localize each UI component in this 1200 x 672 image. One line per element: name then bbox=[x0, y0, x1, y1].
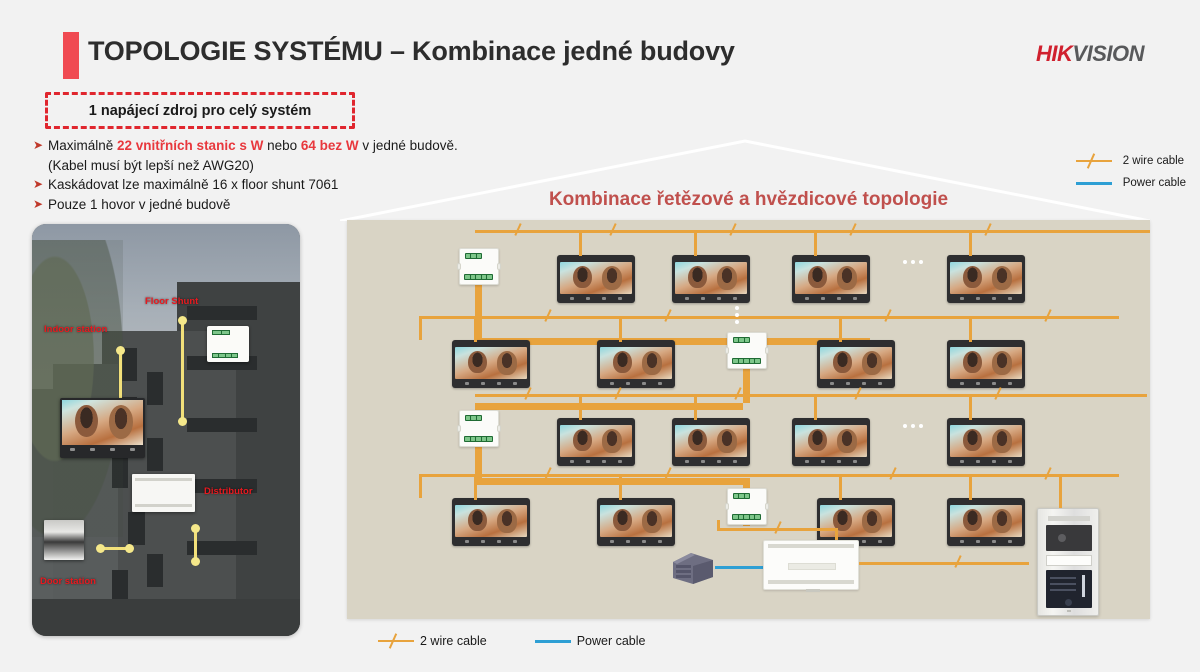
building-photo: Floor ShuntIndoor stationDistributorDoor… bbox=[32, 224, 300, 636]
monitor-screen bbox=[560, 262, 632, 294]
distributor-foot bbox=[806, 589, 820, 592]
floor-shunt-module[interactable] bbox=[727, 488, 767, 525]
photo-label-door-station: Door station bbox=[40, 576, 96, 587]
monitor-screen bbox=[820, 347, 892, 379]
photo-distributor-bottom-terminals bbox=[135, 504, 192, 507]
two-wire-cable-segment bbox=[814, 230, 817, 256]
photo-connector bbox=[178, 316, 187, 426]
shunt-left-ear bbox=[457, 425, 461, 432]
monitor-controls[interactable] bbox=[795, 294, 867, 303]
shunt-left-ear bbox=[725, 503, 729, 510]
photo-monitor-screen bbox=[62, 400, 143, 445]
indoor-station-monitor[interactable] bbox=[452, 498, 530, 546]
two-wire-cable-segment bbox=[839, 316, 842, 342]
photo-floor-shunt bbox=[207, 326, 249, 362]
bullet-marker-icon: ➤ bbox=[33, 195, 48, 214]
two-wire-cable-segment bbox=[474, 474, 477, 500]
monitor-screen bbox=[675, 425, 747, 457]
photo-tree bbox=[32, 240, 123, 537]
shunt-right-ear bbox=[497, 425, 501, 432]
photo-window bbox=[147, 554, 163, 587]
indoor-station-monitor[interactable] bbox=[792, 255, 870, 303]
indoor-station-monitor[interactable] bbox=[452, 340, 530, 388]
photo-window bbox=[187, 306, 257, 320]
indoor-station-monitor[interactable] bbox=[597, 498, 675, 546]
indoor-station-monitor[interactable] bbox=[792, 418, 870, 466]
monitor-screen bbox=[795, 262, 867, 294]
page-title: TOPOLOGIE SYSTÉMU – Kombinace jedné budo… bbox=[88, 36, 735, 67]
photo-window bbox=[128, 512, 144, 545]
indoor-station-monitor[interactable] bbox=[672, 255, 750, 303]
topology-diagram-panel bbox=[347, 220, 1150, 619]
slide-root: TOPOLOGIE SYSTÉMU – Kombinace jedné budo… bbox=[0, 0, 1200, 672]
two-wire-cable-segment bbox=[619, 474, 622, 500]
shunt-bottom-terminal bbox=[464, 436, 493, 442]
bullet-text: Kaskádovat lze maximálně 16 x floor shun… bbox=[48, 175, 338, 194]
monitor-screen bbox=[820, 505, 892, 537]
distributor-top-terminals bbox=[768, 544, 854, 548]
monitor-screen bbox=[950, 347, 1022, 379]
power-supply-callout-text: 1 napájecí zdroj pro celý systém bbox=[89, 103, 311, 119]
two-wire-cable-segment bbox=[579, 394, 582, 420]
bullet-plain: Maximálně bbox=[48, 138, 117, 153]
door-station-top-grille bbox=[1048, 516, 1090, 521]
photo-shunt-bottom-terminal bbox=[212, 353, 238, 358]
monitor-screen bbox=[950, 262, 1022, 294]
title-accent-bar bbox=[63, 32, 79, 79]
monitor-screen bbox=[795, 425, 867, 457]
indoor-station-monitor[interactable] bbox=[817, 340, 895, 388]
shunt-top-terminal bbox=[465, 253, 482, 259]
two-wire-cable-segment bbox=[619, 316, 622, 342]
monitor-controls[interactable] bbox=[600, 379, 672, 388]
monitor-screen bbox=[455, 505, 527, 537]
floor-shunt-module[interactable] bbox=[459, 248, 499, 285]
continuation-dots bbox=[903, 260, 923, 264]
monitor-screen bbox=[600, 505, 672, 537]
photo-door-station bbox=[44, 520, 84, 560]
two-wire-cable-segment bbox=[475, 230, 1150, 233]
monitor-controls[interactable] bbox=[455, 379, 527, 388]
monitor-screen bbox=[950, 425, 1022, 457]
shunt-bottom-terminal bbox=[732, 358, 761, 364]
photo-indoor-station bbox=[60, 398, 145, 458]
door-station-camera-module bbox=[1046, 525, 1092, 551]
indoor-station-monitor[interactable] bbox=[557, 418, 635, 466]
door-station-lens bbox=[1058, 534, 1066, 542]
shunt-left-ear bbox=[457, 263, 461, 270]
monitor-screen bbox=[600, 347, 672, 379]
two-wire-cable-segment bbox=[579, 230, 582, 256]
bullet-plain: Kaskádovat lze maximálně 16 x floor shun… bbox=[48, 177, 338, 192]
monitor-screen bbox=[560, 425, 632, 457]
shunt-right-ear bbox=[497, 263, 501, 270]
photo-monitor-controls bbox=[62, 445, 143, 454]
door-station-nameplate bbox=[1046, 555, 1092, 566]
photo-window bbox=[147, 372, 163, 405]
monitor-screen bbox=[950, 505, 1022, 537]
two-wire-cable-segment bbox=[419, 474, 1119, 477]
two-wire-cable-segment bbox=[419, 316, 1119, 319]
door-station-panel[interactable] bbox=[1037, 508, 1099, 616]
shunt-right-ear bbox=[765, 347, 769, 354]
bullet-plain: nebo bbox=[263, 138, 301, 153]
two-wire-cable-segment bbox=[969, 316, 972, 342]
two-wire-cable-segment bbox=[839, 474, 842, 500]
power-supply-callout: 1 napájecí zdroj pro celý systém bbox=[45, 92, 355, 129]
two-wire-cable-segment bbox=[969, 394, 972, 420]
two-wire-cable-segment bbox=[419, 474, 422, 498]
door-station-screen-list bbox=[1050, 589, 1076, 591]
monitor-controls[interactable] bbox=[600, 537, 672, 546]
door-station-bottom-dot bbox=[1067, 610, 1071, 612]
monitor-screen bbox=[455, 347, 527, 379]
photo-shunt-top-terminal bbox=[212, 330, 230, 335]
logo-hik-text: HIK bbox=[1036, 41, 1072, 66]
photo-connector bbox=[96, 544, 134, 553]
indoor-station-monitor[interactable] bbox=[947, 340, 1025, 388]
shunt-top-terminal bbox=[733, 493, 750, 499]
bullet-text: Pouze 1 hovor v jedné budově bbox=[48, 195, 230, 214]
indoor-station-monitor[interactable] bbox=[672, 418, 750, 466]
door-station-screen-list bbox=[1050, 577, 1076, 579]
two-wire-cable-segment bbox=[1059, 474, 1062, 508]
logo-vision-text: VISION bbox=[1072, 41, 1144, 66]
door-station-home-button[interactable] bbox=[1065, 599, 1072, 606]
monitor-controls[interactable] bbox=[950, 537, 1022, 546]
monitor-controls[interactable] bbox=[560, 294, 632, 303]
monitor-controls[interactable] bbox=[675, 457, 747, 466]
bullet-marker-icon: ➤ bbox=[33, 175, 48, 194]
shunt-bottom-terminal bbox=[464, 274, 493, 280]
legend-bottom-label-2-wire: 2 wire cable bbox=[420, 634, 487, 648]
legend-bottom-label-power: Power cable bbox=[577, 634, 646, 648]
monitor-controls[interactable] bbox=[560, 457, 632, 466]
monitor-controls[interactable] bbox=[820, 379, 892, 388]
legend-bottom-item-power: Power cable bbox=[533, 633, 646, 649]
diagram-title: Kombinace řetězové a hvězdicové topologi… bbox=[347, 189, 1150, 211]
monitor-controls[interactable] bbox=[675, 294, 747, 303]
bullet-plain: Pouze 1 hovor v jedné budově bbox=[48, 197, 230, 212]
two-wire-cable-segment bbox=[717, 520, 720, 530]
two-wire-cable-segment bbox=[475, 478, 745, 485]
shunt-left-ear bbox=[725, 347, 729, 354]
indoor-station-monitor[interactable] bbox=[947, 498, 1025, 546]
monitor-controls[interactable] bbox=[950, 457, 1022, 466]
two-wire-cable-segment bbox=[475, 394, 1147, 397]
photo-label-floor-shunt: Floor Shunt bbox=[145, 296, 198, 307]
two-wire-cable-segment bbox=[859, 562, 1029, 565]
photo-window bbox=[187, 418, 257, 432]
photo-label-distributor: Distributor bbox=[204, 486, 253, 497]
shunt-bottom-terminal bbox=[732, 514, 761, 520]
distributor-module[interactable] bbox=[763, 540, 859, 590]
hikvision-logo: HIKVISION bbox=[1036, 41, 1144, 67]
distributor-label-strip bbox=[788, 563, 836, 570]
bullet-marker-icon: ➤ bbox=[33, 136, 48, 155]
photo-window bbox=[147, 438, 163, 471]
legend-bottom-item-2-wire: 2 wire cable bbox=[376, 633, 487, 649]
two-wire-cable-segment bbox=[814, 394, 817, 420]
monitor-controls[interactable] bbox=[950, 294, 1022, 303]
shunt-top-terminal bbox=[733, 337, 750, 343]
indoor-station-monitor[interactable] bbox=[947, 418, 1025, 466]
monitor-screen bbox=[675, 262, 747, 294]
door-station-scrollbar[interactable] bbox=[1082, 575, 1085, 597]
monitor-controls[interactable] bbox=[795, 457, 867, 466]
photo-water bbox=[32, 599, 300, 636]
two-wire-cable-segment bbox=[694, 394, 697, 420]
indoor-station-monitor[interactable] bbox=[817, 498, 895, 546]
continuation-dots bbox=[903, 424, 923, 428]
photo-distributor bbox=[132, 474, 195, 512]
bullet-highlight: 22 vnitřních stanic s W bbox=[117, 138, 263, 153]
distributor-bottom-terminals bbox=[768, 580, 854, 584]
floor-shunt-module[interactable] bbox=[727, 332, 767, 369]
two-wire-cable-segment bbox=[419, 316, 422, 340]
power-cable-segment bbox=[715, 566, 763, 569]
shunt-right-ear bbox=[765, 503, 769, 510]
legend-bottom: 2 wire cable Power cable bbox=[376, 633, 646, 649]
indoor-station-monitor[interactable] bbox=[947, 255, 1025, 303]
power-supply-module[interactable] bbox=[669, 550, 715, 586]
continuation-dots bbox=[735, 306, 739, 324]
two-wire-cable-segment bbox=[694, 230, 697, 256]
two-wire-cable-segment bbox=[475, 403, 743, 410]
two-wire-cable-segment bbox=[474, 316, 477, 342]
power-cable-icon bbox=[533, 633, 573, 649]
two-wire-cable-segment bbox=[969, 474, 972, 500]
two-wire-cable-icon bbox=[376, 633, 416, 649]
monitor-controls[interactable] bbox=[455, 537, 527, 546]
indoor-station-monitor[interactable] bbox=[597, 340, 675, 388]
shunt-top-terminal bbox=[465, 415, 482, 421]
two-wire-cable-segment bbox=[969, 230, 972, 256]
indoor-station-monitor[interactable] bbox=[557, 255, 635, 303]
monitor-controls[interactable] bbox=[950, 379, 1022, 388]
photo-connector bbox=[191, 524, 200, 566]
photo-distributor-top-terminals bbox=[135, 478, 192, 481]
door-station-screen-list bbox=[1050, 583, 1076, 585]
photo-label-indoor-station: Indoor station bbox=[44, 324, 107, 335]
floor-shunt-module[interactable] bbox=[459, 410, 499, 447]
